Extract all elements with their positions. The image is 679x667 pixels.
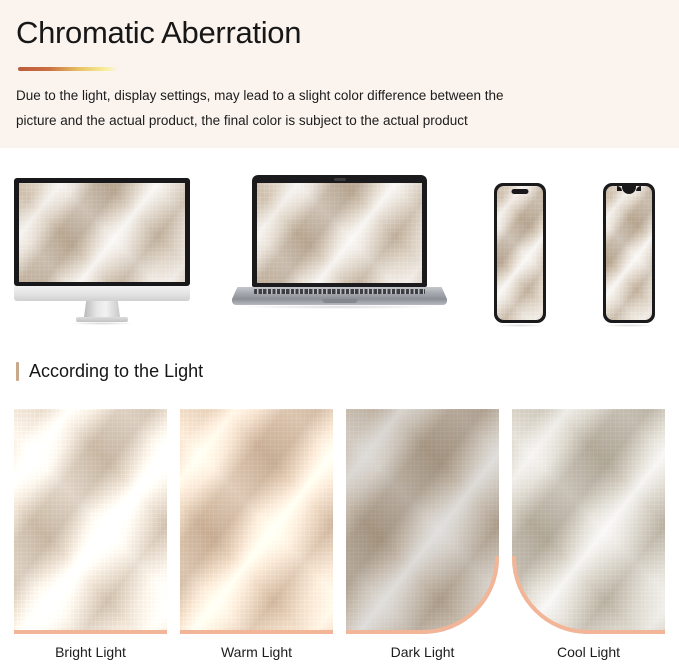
phone-pill-fabric-image xyxy=(497,186,543,320)
swatch-label-cool: Cool Light xyxy=(512,643,665,661)
monitor-stand-neck xyxy=(84,301,120,317)
subtitle-line-2: picture and the actual product, the fina… xyxy=(16,108,636,133)
phone-teardrop-shadow xyxy=(603,324,655,327)
monitor-bezel xyxy=(14,178,190,286)
swatch-label-bright: Bright Light xyxy=(14,643,167,661)
laptop-shadow xyxy=(238,305,441,309)
phone-pill-screen xyxy=(497,186,543,320)
swatch-cool-light: Cool Light xyxy=(512,409,665,634)
laptop-lid xyxy=(252,175,427,287)
swatch-warm-light: Warm Light xyxy=(180,409,333,634)
phone-teardrop-screen xyxy=(606,186,652,320)
light-condition-swatch-grid: Bright Light Warm Light Dark Light Cool … xyxy=(14,409,665,634)
phone-pill-body xyxy=(494,183,546,323)
section-accent-bar xyxy=(16,362,19,381)
phone-notch-pill xyxy=(494,183,546,323)
swatch-bright-light: Bright Light xyxy=(14,409,167,634)
phone-notch-teardrop xyxy=(603,183,655,323)
webcam-icon xyxy=(334,178,346,181)
swatch-underline-warm xyxy=(180,630,333,634)
subtitle-line-1: Due to the light, display settings, may … xyxy=(16,83,636,108)
title-gradient-divider xyxy=(18,67,118,71)
swatch-image-bright xyxy=(14,409,167,634)
swatch-label-dark: Dark Light xyxy=(346,643,499,661)
swatch-dark-light: Dark Light xyxy=(346,409,499,634)
header-band: Chromatic Aberration Due to the light, d… xyxy=(0,0,679,148)
monitor-chin xyxy=(14,286,190,301)
section-title: According to the Light xyxy=(29,360,203,382)
laptop-keyboard xyxy=(254,289,425,294)
fabric-texture xyxy=(180,409,333,634)
header-subtitle: Due to the light, display settings, may … xyxy=(16,83,636,133)
phone-teardrop-body xyxy=(603,183,655,323)
monitor-screen-fabric-image xyxy=(19,183,185,282)
device-showcase xyxy=(0,148,679,340)
chromatic-aberration-infographic: Chromatic Aberration Due to the light, d… xyxy=(0,0,679,667)
section-heading-according-to-the-light: According to the Light xyxy=(16,360,203,382)
laptop xyxy=(232,175,447,315)
laptop-latch-notch xyxy=(322,299,358,303)
swatch-image-warm xyxy=(180,409,333,634)
desktop-monitor xyxy=(14,178,190,308)
phone-teardrop-fabric-image xyxy=(606,186,652,320)
phone-pill-shadow xyxy=(494,324,546,327)
dynamic-island-icon xyxy=(512,189,529,194)
swatch-underline-bright xyxy=(14,630,167,634)
swatch-label-warm: Warm Light xyxy=(180,643,333,661)
fabric-texture xyxy=(14,409,167,634)
laptop-screen-fabric-image xyxy=(257,183,422,283)
monitor-shadow xyxy=(70,322,134,325)
page-title: Chromatic Aberration xyxy=(16,13,301,53)
